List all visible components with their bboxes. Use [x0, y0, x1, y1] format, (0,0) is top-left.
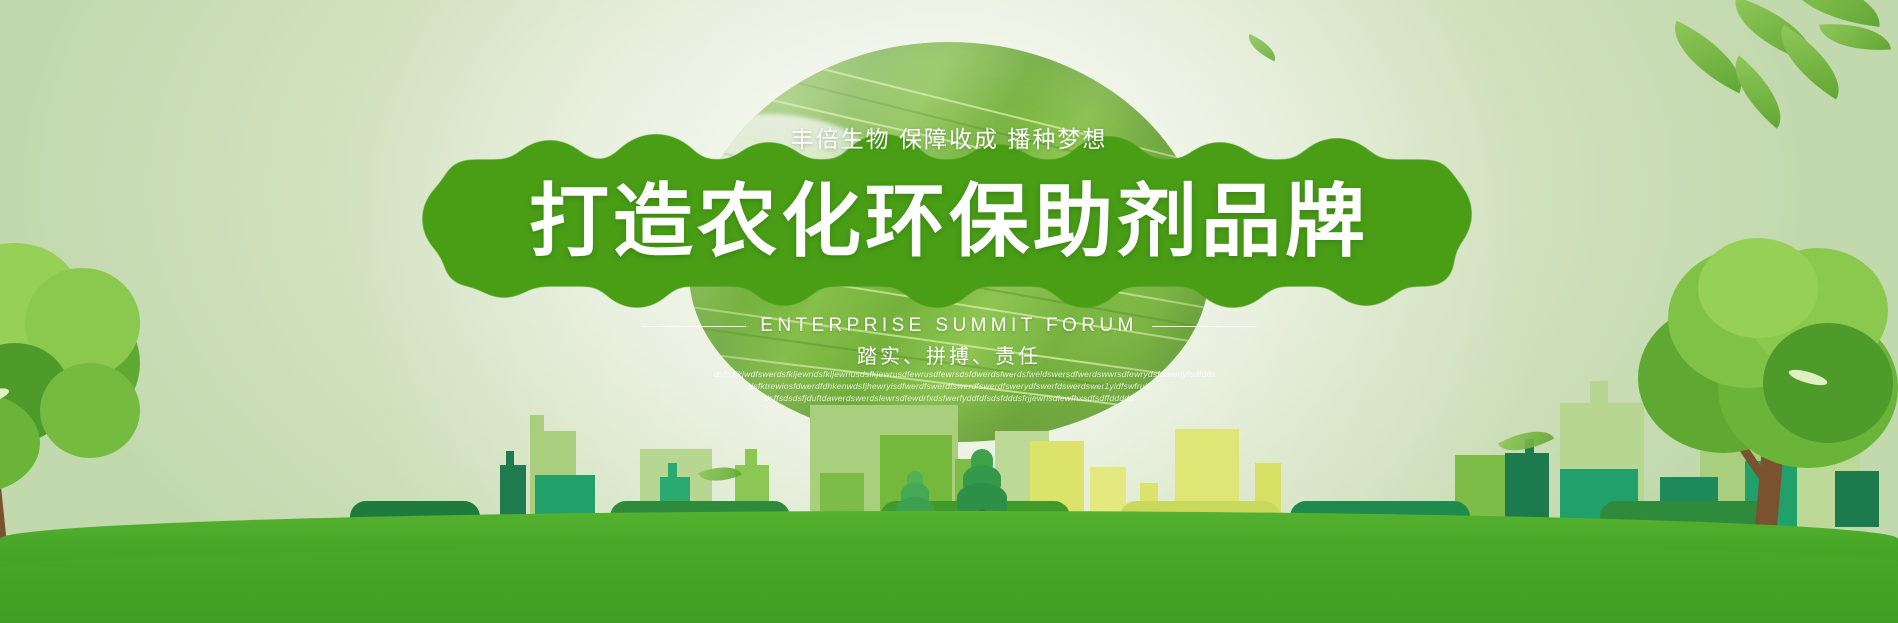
building [1525, 439, 1534, 527]
rule-left [642, 326, 746, 327]
tree-right [1598, 243, 1898, 553]
branch-leaf [1819, 20, 1891, 55]
tree-foliage [40, 363, 140, 458]
ground-hill-front [0, 545, 1898, 623]
forum-label: ENTERPRISE SUMMIT FORUM [760, 315, 1137, 337]
hero-banner: 丰倍生物 保障收成 播种梦想 打造农化环保助剂品牌 ENTERPRISE SUM… [0, 0, 1898, 623]
tree-foliage [1698, 238, 1818, 338]
rule-right [1152, 326, 1256, 327]
floating-leaf [1243, 34, 1280, 62]
tree-left [0, 253, 260, 553]
branch-leaf [1784, 0, 1884, 27]
tree-foliage [1763, 323, 1893, 443]
leaf-branch-top-right [1468, 0, 1888, 160]
